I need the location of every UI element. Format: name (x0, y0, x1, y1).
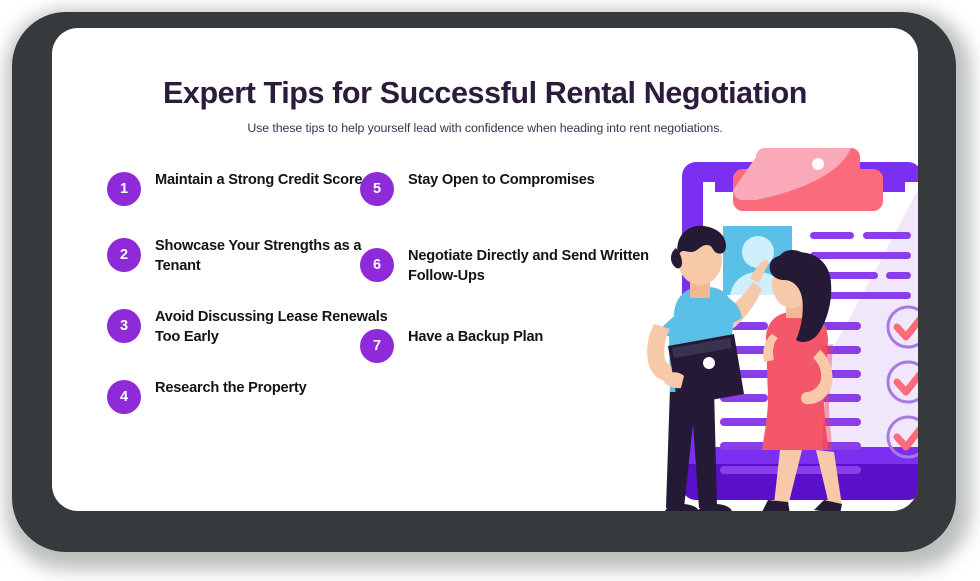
tip-item-7[interactable]: 7 Have a Backup Plan (360, 327, 650, 363)
tip-item-5[interactable]: 5 Stay Open to Compromises (360, 170, 650, 206)
tip-number-badge: 4 (107, 380, 141, 414)
clipboard-clip (715, 148, 905, 211)
tip-label: Research the Property (155, 378, 307, 399)
clip-dot (812, 158, 824, 170)
tip-number-badge: 3 (107, 309, 141, 343)
tips-column-right: 5 Stay Open to Compromises 6 Negotiate D… (360, 170, 650, 403)
tip-number-badge: 5 (360, 172, 394, 206)
tip-number-badge: 7 (360, 329, 394, 363)
tip-number-badge: 2 (107, 238, 141, 272)
tip-label: Stay Open to Compromises (408, 170, 595, 191)
infographic-stage: Expert Tips for Successful Rental Negoti… (0, 0, 980, 581)
tip-label: Negotiate Directly and Send Written Foll… (408, 246, 650, 287)
tip-item-6[interactable]: 6 Negotiate Directly and Send Written Fo… (360, 246, 650, 287)
tip-label: Have a Backup Plan (408, 327, 543, 348)
tip-number-badge: 6 (360, 248, 394, 282)
handheld-clipboard (668, 334, 744, 406)
page-title: Expert Tips for Successful Rental Negoti… (52, 76, 918, 111)
infographic-card: Expert Tips for Successful Rental Negoti… (52, 28, 918, 511)
tip-label: Maintain a Strong Credit Score (155, 170, 362, 191)
tip-number-badge: 1 (107, 172, 141, 206)
clipboard-illustration (620, 120, 918, 511)
